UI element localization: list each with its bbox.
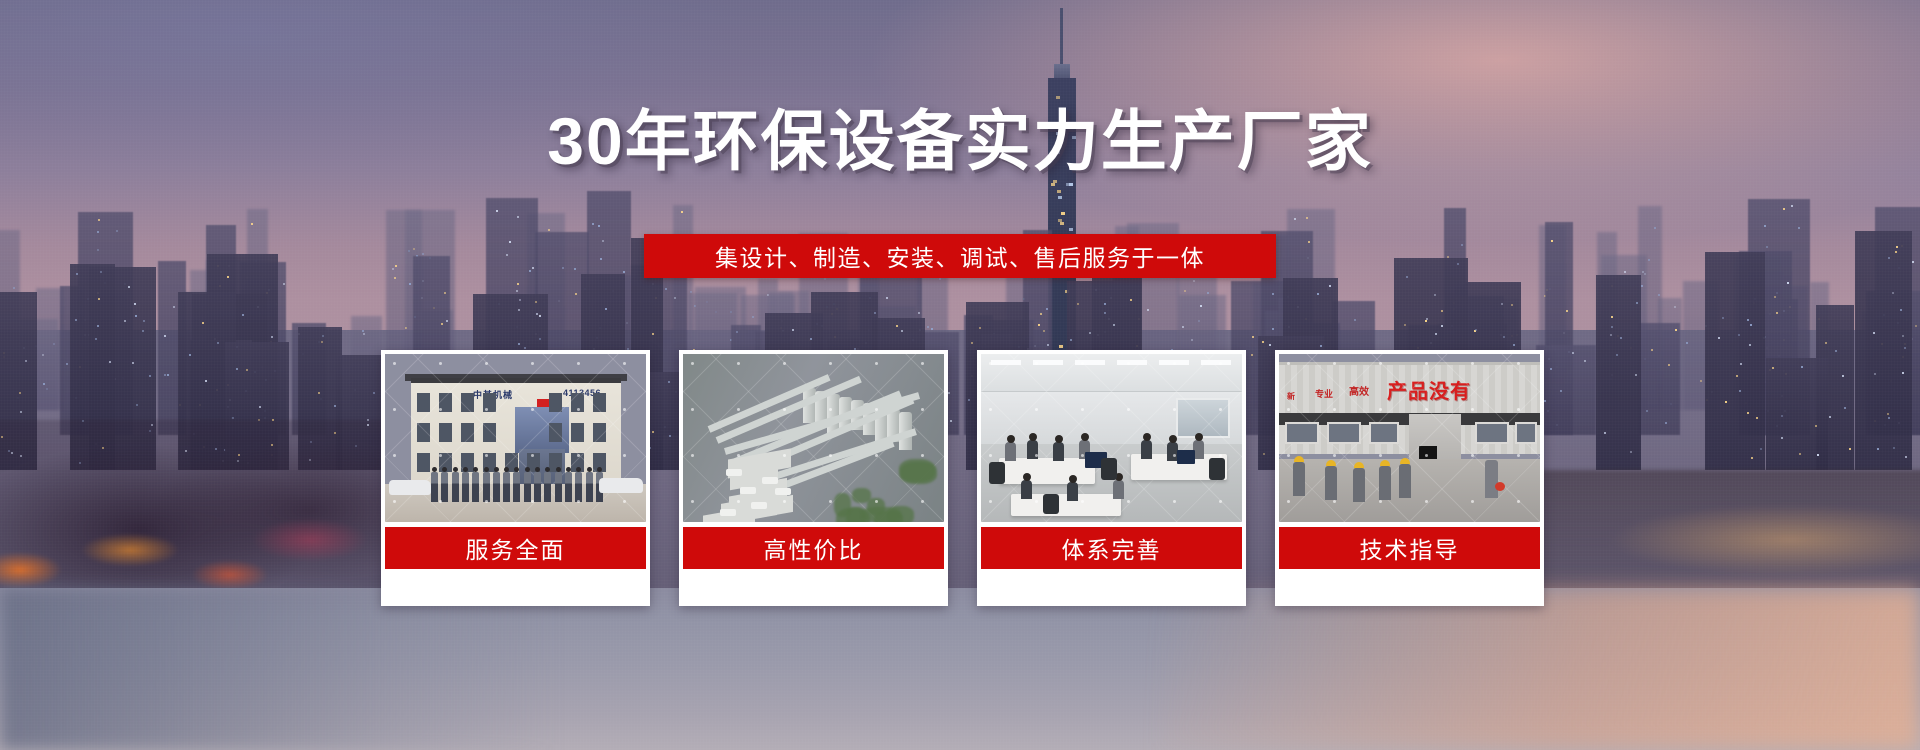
card-caption-bar: 高性价比 [683, 527, 944, 569]
banner-subtitle-bar: 集设计、制造、安装、调试、售后服务于一体 [644, 234, 1276, 278]
card-caption: 高性价比 [764, 531, 864, 565]
feature-card[interactable]: 中基机械 4113456 服务全面 [381, 350, 650, 606]
banner-subtitle: 集设计、制造、安装、调试、售后服务于一体 [715, 239, 1205, 273]
card-photo-aerial-view-industrial-plant [683, 354, 944, 522]
photo-text-wall-small-1: 新 [1287, 391, 1295, 402]
feature-card-list: 中基机械 4113456 服务全面 [381, 350, 1556, 606]
card-caption-bar: 服务全面 [385, 527, 646, 569]
card-photo-office-interior-team-meeting [981, 354, 1242, 522]
card-caption: 服务全面 [466, 531, 566, 565]
feature-card[interactable]: 高性价比 [679, 350, 948, 606]
card-photo-factory-yard-workers-briefing: 新 专业 高效 产品没有 [1279, 354, 1540, 522]
feature-card[interactable]: 体系完善 [977, 350, 1246, 606]
card-photo-company-office-building-and-staff: 中基机械 4113456 [385, 354, 646, 522]
card-caption: 技术指导 [1360, 531, 1460, 565]
feature-card[interactable]: 新 专业 高效 产品没有 技术指导 [1275, 350, 1544, 606]
hero-banner: 30年环保设备实力生产厂家 集设计、制造、安装、调试、售后服务于一体 中基机械 … [0, 0, 1920, 750]
card-caption: 体系完善 [1062, 531, 1162, 565]
card-caption-bar: 技术指导 [1279, 527, 1540, 569]
card-caption-bar: 体系完善 [981, 527, 1242, 569]
photo-text-wall-slogan: 产品没有 [1387, 375, 1471, 404]
photo-text-wall-small-2: 专业 [1315, 387, 1333, 400]
banner-headline: 30年环保设备实力生产厂家 [0, 103, 1920, 180]
banner-content: 30年环保设备实力生产厂家 集设计、制造、安装、调试、售后服务于一体 中基机械 … [0, 0, 1920, 750]
photo-text-wall-small-3: 高效 [1349, 383, 1369, 398]
